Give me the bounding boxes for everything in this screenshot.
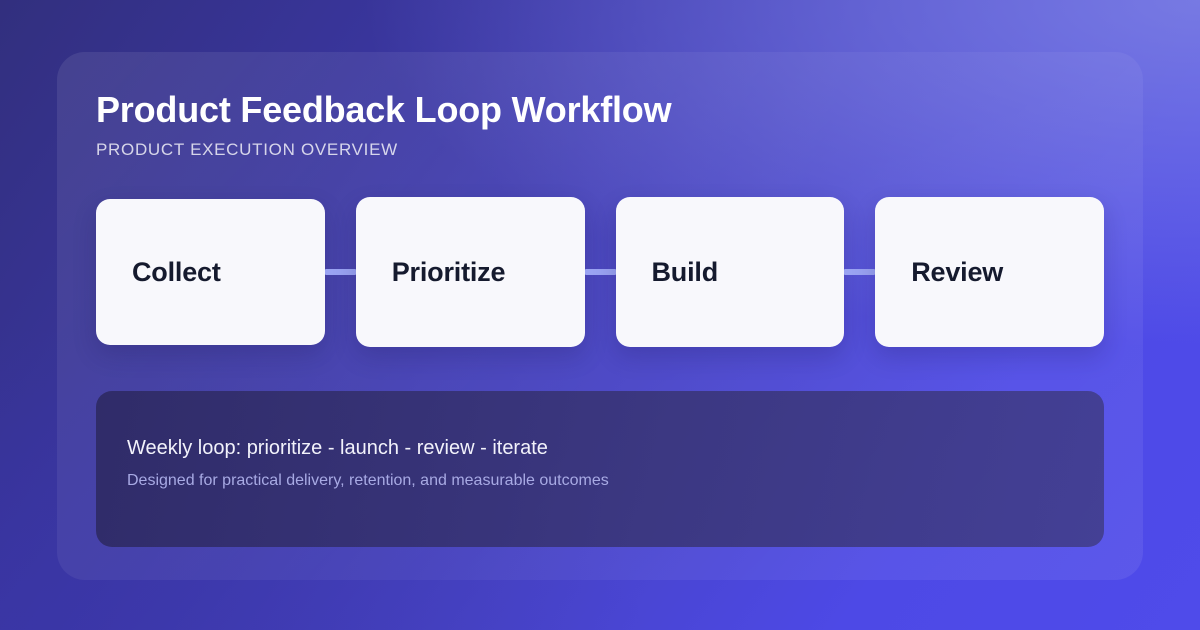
step-card-build[interactable]: Build (616, 197, 845, 347)
summary-headline: Weekly loop: prioritize - launch - revie… (127, 435, 1104, 461)
summary-banner: Weekly loop: prioritize - launch - revie… (96, 391, 1104, 547)
step-connector-3 (844, 269, 875, 275)
step-card-review[interactable]: Review (875, 197, 1104, 347)
workflow-steps: Collect Prioritize Build Review (96, 197, 1104, 347)
step-connector-2 (585, 269, 616, 275)
page-title: Product Feedback Loop Workflow (96, 88, 1104, 132)
step-label: Review (911, 257, 1003, 288)
page-subtitle: PRODUCT EXECUTION OVERVIEW (96, 139, 1104, 161)
content-panel: Product Feedback Loop Workflow PRODUCT E… (57, 52, 1143, 580)
step-label: Prioritize (392, 257, 506, 288)
slide-canvas: Product Feedback Loop Workflow PRODUCT E… (0, 0, 1200, 630)
step-card-collect[interactable]: Collect (96, 199, 325, 345)
step-label: Collect (132, 257, 221, 288)
step-label: Build (652, 257, 719, 288)
summary-note: Designed for practical delivery, retenti… (127, 470, 1104, 492)
step-connector-1 (325, 269, 356, 275)
step-card-prioritize[interactable]: Prioritize (356, 197, 585, 347)
